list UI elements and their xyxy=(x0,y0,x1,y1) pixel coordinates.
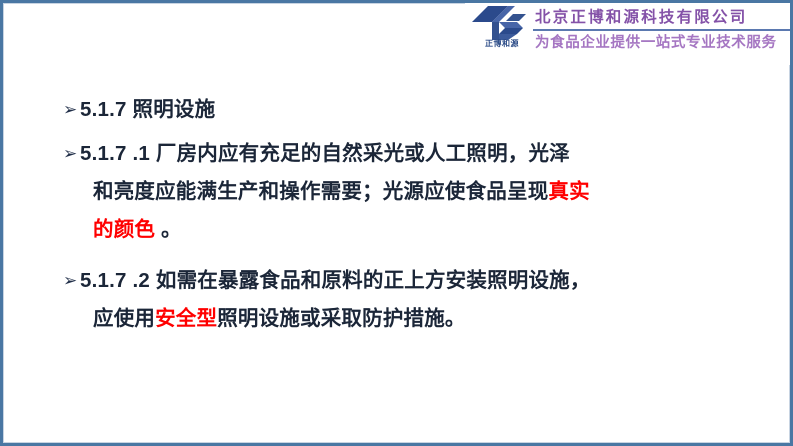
clause-1-line-1: 5.1.7 .1 厂房内应有充足的自然采光或人工照明，光泽 xyxy=(80,142,570,165)
company-slogan: 为食品企业提供一站式专业技术服务 xyxy=(533,33,793,53)
company-z-logo-icon xyxy=(471,5,527,41)
bullet-icon: ➢ xyxy=(63,262,80,300)
company-name: 北京正博和源科技有限公司 xyxy=(533,7,793,28)
clause-2-line-2-pre: 应使用 xyxy=(93,307,155,330)
clause-1-line-2: 和亮度应能满生产和操作需要；光源应使食品呈现 xyxy=(93,180,548,203)
paragraph-heading-text: 5.1.7 照明设施 xyxy=(80,91,753,129)
paragraph-clause-5-1-7-1: ➢ 5.1.7 .1 厂房内应有充足的自然采光或人工照明，光泽 和亮度应能满生产… xyxy=(63,135,753,249)
slide-body: ➢ 5.1.7 照明设施 ➢ 5.1.7 .1 厂房内应有充足的自然采光或人工照… xyxy=(63,91,753,342)
banner-divider xyxy=(533,29,791,31)
logo-text-block: 北京正博和源科技有限公司 为食品企业提供一站式专业技术服务 xyxy=(533,3,793,65)
logo-mark-wrap: 正博和源 xyxy=(465,3,533,65)
clause-1-line-3-tail: 。 xyxy=(155,218,182,241)
clause-1-line-3-highlight: 的颜色 xyxy=(93,218,155,241)
bullet-icon: ➢ xyxy=(63,135,80,173)
company-logo-banner: 正博和源 北京正博和源科技有限公司 为食品企业提供一站式专业技术服务 xyxy=(465,3,793,65)
logo-subtext: 正博和源 xyxy=(473,39,531,49)
clause-1-line-2-highlight: 真实 xyxy=(548,180,589,203)
paragraph-clause-1-text: 5.1.7 .1 厂房内应有充足的自然采光或人工照明，光泽 和亮度应能满生产和操… xyxy=(80,135,753,249)
slide-canvas: 正博和源 北京正博和源科技有限公司 为食品企业提供一站式专业技术服务 ➢ 5.1… xyxy=(0,0,793,446)
paragraph-heading-5-1-7: ➢ 5.1.7 照明设施 xyxy=(63,91,753,129)
paragraph-clause-2-text: 5.1.7 .2 如需在暴露食品和原料的正上方安装照明设施， 应使用安全型照明设… xyxy=(80,262,753,338)
clause-2-line-1: 5.1.7 .2 如需在暴露食品和原料的正上方安装照明设施， xyxy=(80,269,591,292)
paragraph-clause-5-1-7-2: ➢ 5.1.7 .2 如需在暴露食品和原料的正上方安装照明设施， 应使用安全型照… xyxy=(63,262,753,338)
bullet-icon: ➢ xyxy=(63,91,80,129)
clause-2-line-2-post: 照明设施或采取防护措施。 xyxy=(217,307,465,330)
clause-2-line-2-highlight: 安全型 xyxy=(155,307,217,330)
heading-line-1: 5.1.7 照明设施 xyxy=(80,98,215,121)
